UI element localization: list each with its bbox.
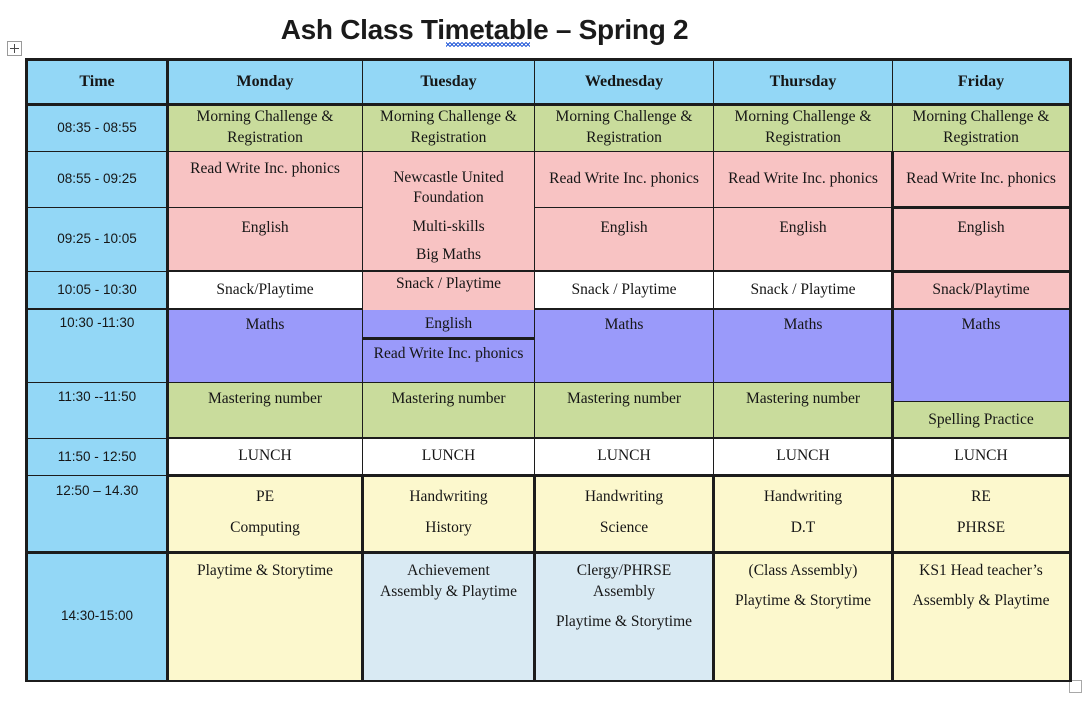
cell-thursday-lunch: LUNCH — [714, 439, 893, 476]
cell-thursday-snack: Snack / Playtime — [714, 272, 893, 310]
cell-tuesday-end-of-day: Achievement Assembly & Playtime — [363, 553, 535, 680]
cell-monday-afternoon: PE Computing Music — [168, 476, 363, 553]
cell-thursday-mastering-number: Mastering number — [714, 383, 893, 439]
cell-monday-lunch: LUNCH — [168, 439, 363, 476]
cell-thursday-registration: Morning Challenge & Registration — [714, 105, 893, 152]
column-header-monday: Monday — [168, 61, 363, 105]
cell-friday-afternoon: RE PHRSE Library Time — [893, 476, 1069, 553]
cell-friday-end-of-day: KS1 Head teacher’s Assembly & Playtime — [893, 553, 1069, 680]
rule-below-lunch — [168, 474, 1069, 477]
time-cell-0855: 08:55 - 09:25 — [28, 152, 168, 208]
column-header-tuesday: Tuesday — [363, 61, 535, 105]
timetable: Time Monday Tuesday Wednesday Thursday F… — [25, 58, 1072, 682]
rule-tuesday-english-underline — [363, 337, 535, 340]
cell-monday-snack: Snack/Playtime — [168, 272, 363, 310]
column-header-time: Time — [28, 61, 168, 105]
cell-wednesday-lunch: LUNCH — [535, 439, 714, 476]
cell-tuesday-mastering-number: Mastering number — [363, 383, 535, 439]
cell-wednesday-snack: Snack / Playtime — [535, 272, 714, 310]
cell-wednesday-end-of-day: Clergy/PHRSE Assembly Playtime & Storyti… — [535, 553, 714, 680]
cell-thursday-maths: Maths — [714, 310, 893, 383]
time-cell-1130: 11:30 --11:50 — [28, 383, 168, 439]
cell-monday-english: English — [168, 208, 363, 272]
cell-monday-end-of-day: Playtime & Storytime — [168, 553, 363, 680]
divider-time-column — [166, 61, 169, 680]
time-cell-1030: 10:30 -11:30 — [28, 310, 168, 383]
time-cell-0925: 09:25 - 10:05 — [28, 208, 168, 272]
time-cell-1150: 11:50 - 12:50 — [28, 439, 168, 476]
time-cell-1430: 14:30-15:00 — [28, 553, 168, 680]
rule-friday-snack-top — [893, 270, 1069, 273]
cell-wednesday-afternoon: Handwriting Science — [535, 476, 714, 553]
rule-wed-thu-snack-top — [535, 270, 893, 272]
time-cell-1250: 12:50 – 14.30 — [28, 476, 168, 553]
cell-tuesday-english: English — [363, 310, 535, 339]
table-move-handle[interactable] — [7, 41, 22, 56]
spellcheck-squiggle — [446, 42, 530, 47]
cell-thursday-afternoon: Handwriting D.T — [714, 476, 893, 553]
column-header-thursday: Thursday — [714, 61, 893, 105]
column-header-friday: Friday — [893, 61, 1069, 105]
cell-friday-snack: Snack/Playtime — [893, 272, 1069, 310]
divider-wednesday-thursday-lower — [712, 476, 715, 680]
cell-monday-maths: Maths — [168, 310, 363, 383]
cell-wednesday-registration: Morning Challenge & Registration — [535, 105, 714, 152]
column-header-wednesday: Wednesday — [535, 61, 714, 105]
cell-tuesday-phonics: Read Write Inc. phonics — [363, 339, 535, 383]
cell-friday-lunch: LUNCH — [893, 439, 1069, 476]
cell-friday-phonics: Read Write Inc. phonics — [893, 152, 1069, 208]
rule-friday-english-top — [893, 206, 1069, 209]
rule-under-header — [28, 103, 1069, 106]
divider-tuesday-wednesday-lower — [533, 476, 536, 680]
cell-friday-spelling-practice: Spelling Practice — [893, 402, 1069, 439]
cell-tuesday-lunch: LUNCH — [363, 439, 535, 476]
cell-thursday-phonics: Read Write Inc. phonics — [714, 152, 893, 208]
divider-thursday-friday — [891, 152, 894, 680]
cell-tuesday-nufc-block: Newcastle United Foundation Multi-skills… — [363, 152, 535, 310]
cell-tuesday-afternoon: Handwriting History — [363, 476, 535, 553]
page-title: Ash Class Timetable – Spring 2 — [0, 14, 1089, 46]
cell-wednesday-english: English — [535, 208, 714, 272]
cell-wednesday-maths: Maths — [535, 310, 714, 383]
cell-wednesday-mastering-number: Mastering number — [535, 383, 714, 439]
rule-above-lunch — [168, 437, 1069, 439]
rule-time-row4-bottom — [28, 308, 168, 310]
rule-monday-snack-top — [168, 270, 535, 272]
divider-monday-tuesday-lower — [361, 476, 364, 680]
cell-thursday-english: English — [714, 208, 893, 272]
cell-monday-phonics: Read Write Inc. phonics — [168, 152, 363, 208]
cell-thursday-end-of-day: (Class Assembly) Playtime & Storytime — [714, 553, 893, 680]
time-cell-0835: 08:35 - 08:55 — [28, 105, 168, 152]
cell-friday-maths: Maths — [893, 310, 1069, 402]
cell-monday-registration: Morning Challenge & Registration — [168, 105, 363, 152]
cell-monday-mastering-number: Mastering number — [168, 383, 363, 439]
cell-friday-english: English — [893, 208, 1069, 272]
cell-friday-registration: Morning Challenge & Registration — [893, 105, 1069, 152]
rule-above-end-of-day — [28, 551, 1069, 554]
cell-tuesday-registration: Morning Challenge & Registration — [363, 105, 535, 152]
time-cell-1005: 10:05 - 10:30 — [28, 272, 168, 310]
page-title-text: Ash Class Timetable – Spring 2 — [281, 14, 689, 45]
cell-wednesday-phonics: Read Write Inc. phonics — [535, 152, 714, 208]
